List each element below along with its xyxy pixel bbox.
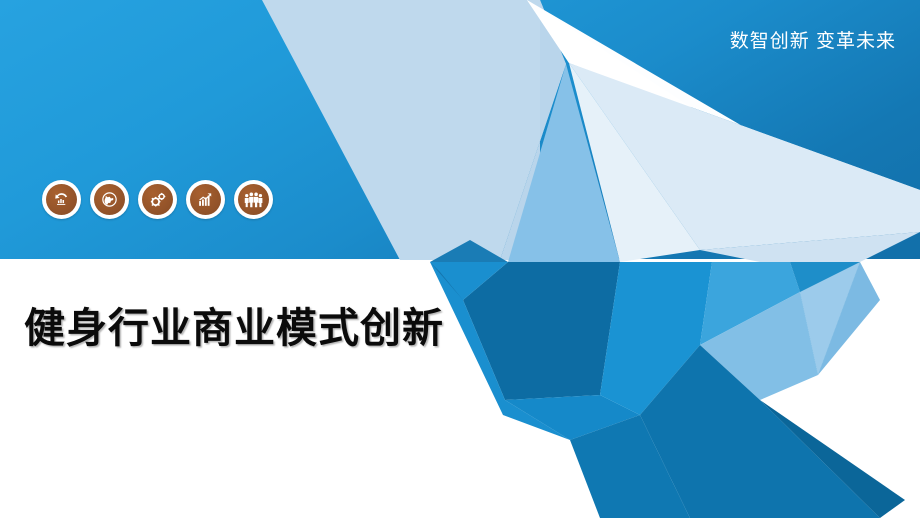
refresh-cycle-icon-disc [46, 184, 77, 215]
low-poly-decoration [0, 0, 920, 518]
people-group-icon[interactable] [234, 180, 273, 219]
bar-chart-icon[interactable] [186, 180, 225, 219]
tagline-text: 数智创新 变革未来 [730, 26, 896, 53]
people-group-icon-disc [238, 184, 269, 215]
gears-icon[interactable] [138, 180, 177, 219]
globe-icon-disc [94, 184, 125, 215]
bar-chart-icon-disc [190, 184, 221, 215]
page-title: 健身行业商业模式创新 [24, 294, 444, 354]
slide-canvas: 数智创新 变革未来 [0, 0, 920, 518]
feature-icon-row [42, 180, 273, 219]
refresh-cycle-icon[interactable] [42, 180, 81, 219]
gears-icon-disc [142, 184, 173, 215]
globe-icon[interactable] [90, 180, 129, 219]
